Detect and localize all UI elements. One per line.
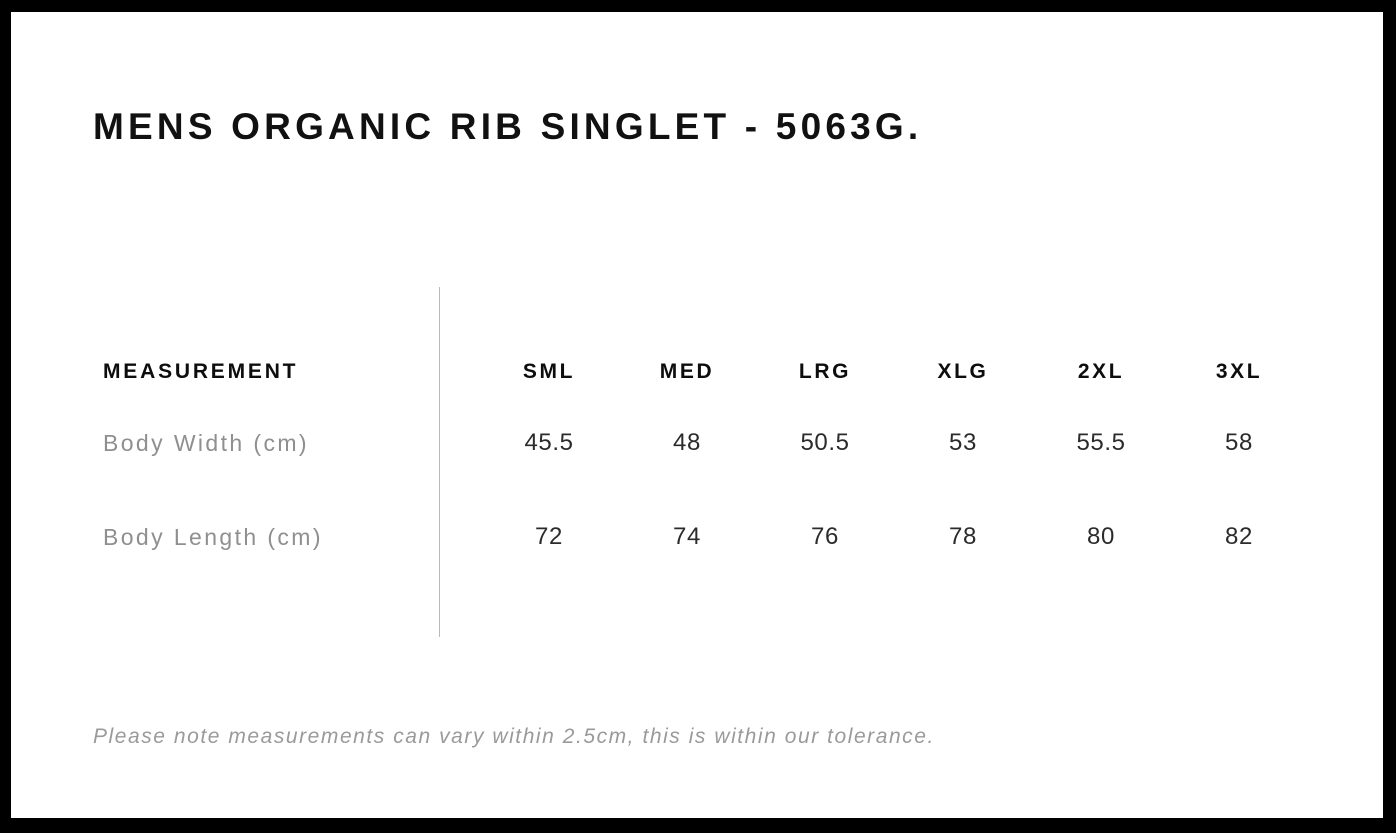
table-header-row: MEASUREMENT SML MED LRG XLG 2XL 3XL bbox=[93, 348, 1308, 396]
tolerance-note: Please note measurements can vary within… bbox=[93, 725, 935, 749]
cell-body-width-3xl: 58 bbox=[1170, 396, 1308, 490]
page-border: MENS ORGANIC RIB SINGLET - 5063G. MEASUR… bbox=[0, 0, 1396, 833]
cell-body-length-3xl: 82 bbox=[1170, 490, 1308, 584]
column-header-sml: SML bbox=[480, 348, 618, 396]
size-chart-sheet: MENS ORGANIC RIB SINGLET - 5063G. MEASUR… bbox=[11, 12, 1383, 818]
row-label-body-length: Body Length (cm) bbox=[93, 490, 480, 584]
cell-body-width-sml: 45.5 bbox=[480, 396, 618, 490]
cell-body-length-med: 74 bbox=[618, 490, 756, 584]
cell-body-width-lrg: 50.5 bbox=[756, 396, 894, 490]
cell-body-length-lrg: 76 bbox=[756, 490, 894, 584]
table-row: Body Width (cm) 45.5 48 50.5 53 55.5 58 bbox=[93, 396, 1308, 490]
cell-body-length-sml: 72 bbox=[480, 490, 618, 584]
size-chart-table-region: MEASUREMENT SML MED LRG XLG 2XL 3XL Body… bbox=[11, 12, 1383, 818]
column-header-xlg: XLG bbox=[894, 348, 1032, 396]
column-header-2xl: 2XL bbox=[1032, 348, 1170, 396]
column-header-lrg: LRG bbox=[756, 348, 894, 396]
cell-body-width-med: 48 bbox=[618, 396, 756, 490]
cell-body-width-2xl: 55.5 bbox=[1032, 396, 1170, 490]
cell-body-length-xlg: 78 bbox=[894, 490, 1032, 584]
size-chart-table: MEASUREMENT SML MED LRG XLG 2XL 3XL Body… bbox=[93, 348, 1308, 584]
cell-body-width-xlg: 53 bbox=[894, 396, 1032, 490]
table-row: Body Length (cm) 72 74 76 78 80 82 bbox=[93, 490, 1308, 584]
column-header-measurement: MEASUREMENT bbox=[93, 348, 480, 396]
column-header-3xl: 3XL bbox=[1170, 348, 1308, 396]
column-header-med: MED bbox=[618, 348, 756, 396]
row-label-body-width: Body Width (cm) bbox=[93, 396, 480, 490]
cell-body-length-2xl: 80 bbox=[1032, 490, 1170, 584]
